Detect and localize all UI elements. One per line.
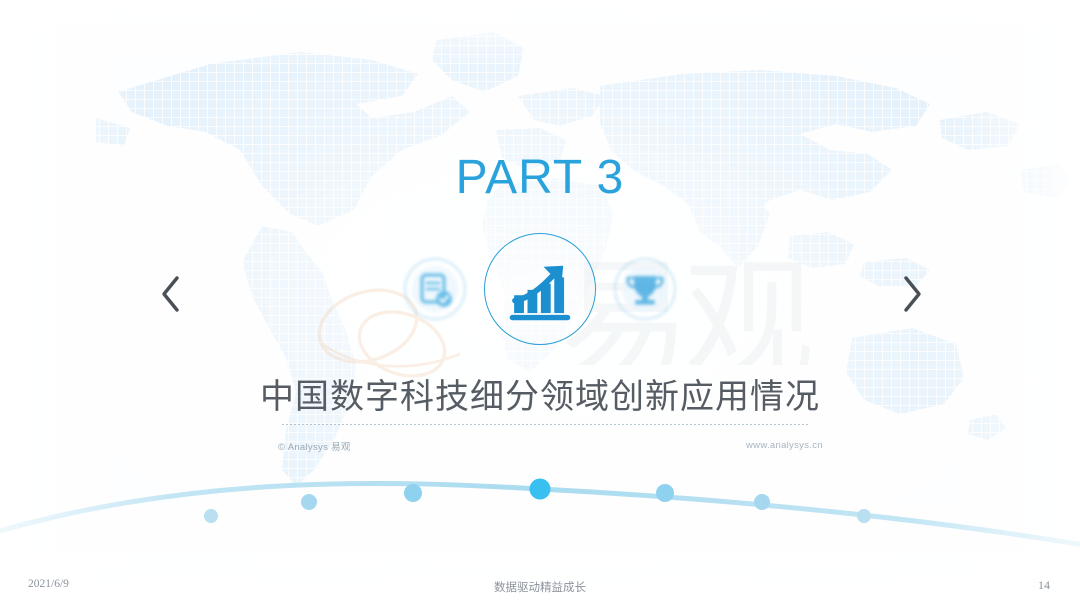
trophy-icon xyxy=(612,256,678,322)
bar-chart-growth-icon xyxy=(484,233,596,345)
copyright-credit: © Analysys 易观 xyxy=(278,439,351,453)
chevron-right-icon[interactable] xyxy=(898,272,926,323)
title-divider xyxy=(282,424,810,425)
icon-cluster xyxy=(410,229,670,349)
arc-dot xyxy=(754,494,770,510)
slide-canvas: 易观 PART 3 xyxy=(0,0,1080,608)
chevron-left-glyph xyxy=(157,272,185,316)
chevron-right-glyph xyxy=(898,272,926,316)
arc-dot xyxy=(404,484,422,502)
arc-dots xyxy=(204,479,871,524)
arc-dot xyxy=(204,509,218,523)
document-check-icon xyxy=(402,256,468,322)
bar-chart-growth-glyph xyxy=(504,256,576,322)
arc-dot xyxy=(301,494,317,510)
arc-dot-active xyxy=(530,479,551,500)
website-url: www.analysys.cn xyxy=(746,440,823,451)
footer-slogan: 数据驱动精益成长 xyxy=(0,579,1080,595)
arc-dot xyxy=(857,509,871,523)
section-title: 中国数字科技细分领域创新应用情况 xyxy=(0,369,1080,418)
footer-page-number: 14 xyxy=(1038,578,1050,593)
chevron-left-icon[interactable] xyxy=(157,272,185,323)
part-title: PART 3 xyxy=(0,152,1080,205)
arc-line xyxy=(0,483,1080,550)
map-left-fade xyxy=(0,0,150,608)
slide-footer: 2021/6/9 数据驱动精益成长 14 xyxy=(0,566,1080,608)
map-right-fade xyxy=(930,0,1080,608)
map-top-fade xyxy=(0,0,1080,70)
progress-arc xyxy=(0,455,1080,550)
arc-dot xyxy=(656,484,674,502)
